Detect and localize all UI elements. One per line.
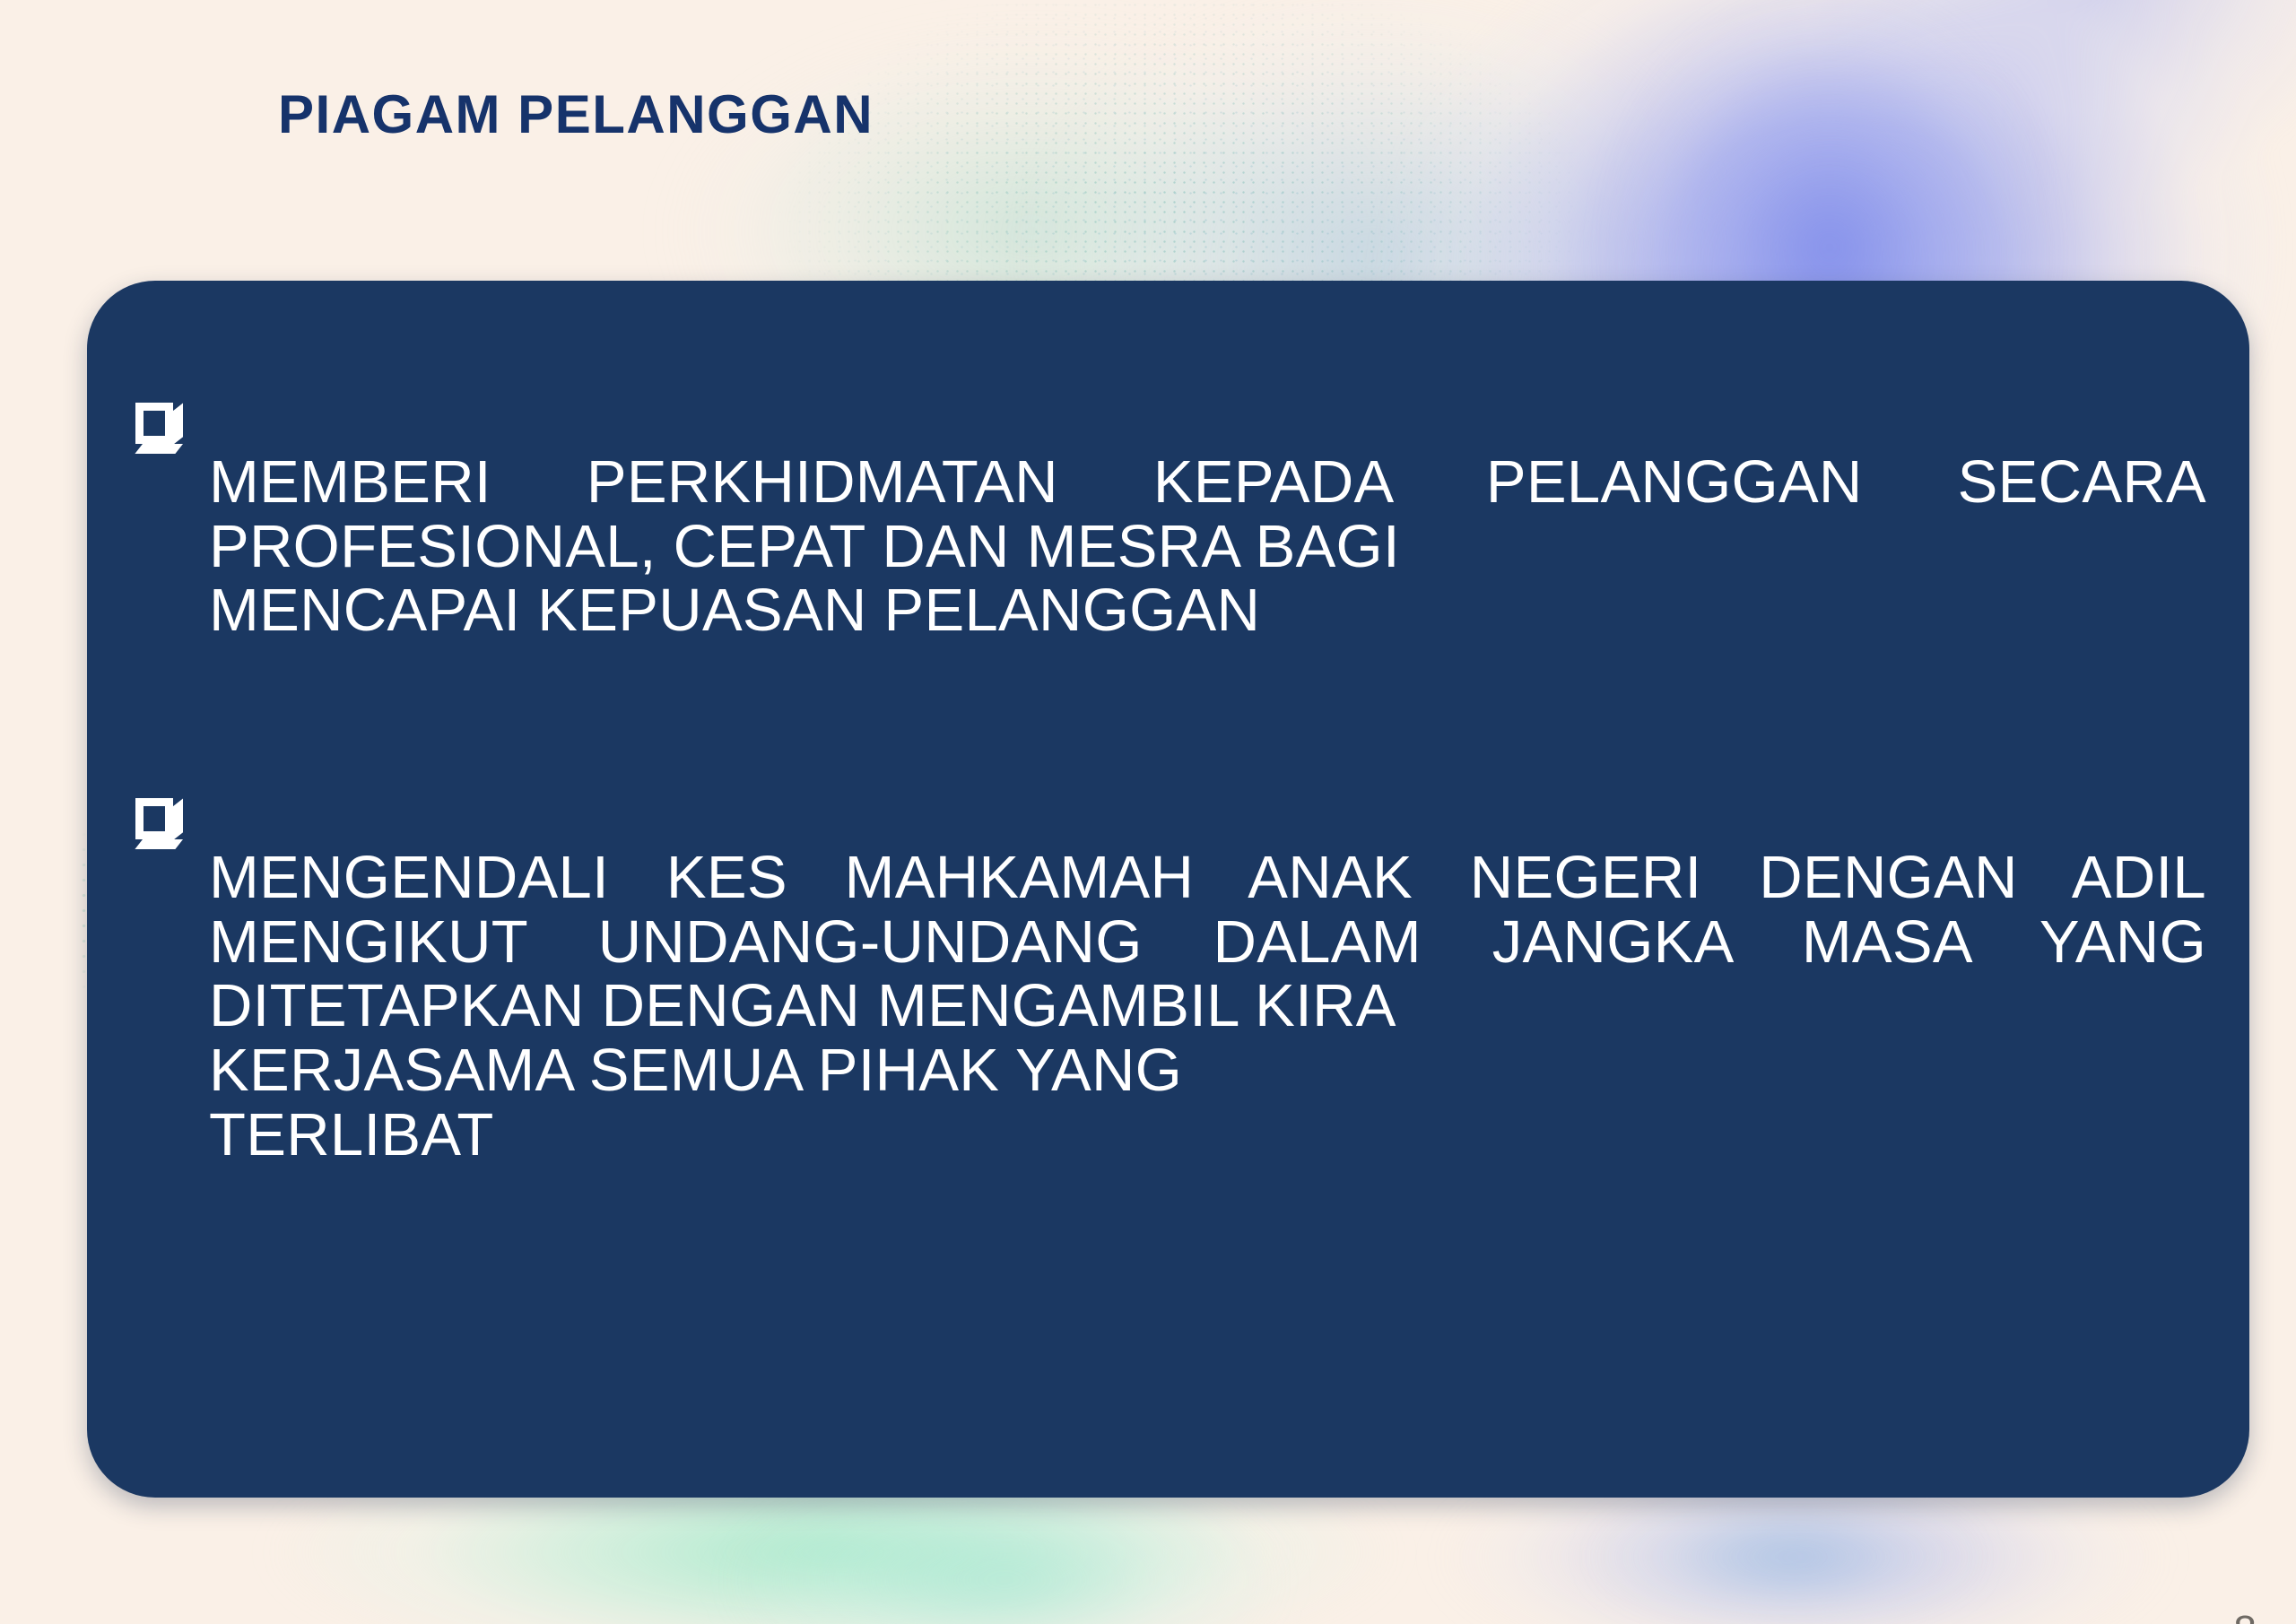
page-title: PIAGAM PELANGGAN	[278, 86, 874, 143]
charter-item-2-body: MENGENDALI KES MAHKAMAH ANAK NEGERI DENG…	[209, 844, 2206, 1039]
charter-item-1-last-line: MENCAPAI KEPUASAN PELANGGAN	[209, 578, 2206, 643]
charter-item-2-text: MENGENDALI KES MAHKAMAH ANAK NEGERI DENG…	[209, 846, 2206, 1167]
slide-root: PIAGAM PELANGGAN MEMBERI PERKHIDMATAN KE…	[0, 0, 2296, 1624]
charter-item-2-last-line: KERJASAMA SEMUA PIHAK YANG	[209, 1038, 2206, 1103]
hollow-square-bullet-icon	[135, 798, 209, 850]
charter-bullet-list: MEMBERI PERKHIDMATAN KEPADA PELANGGAN SE…	[135, 390, 2206, 1228]
list-item: MEMBERI PERKHIDMATAN KEPADA PELANGGAN SE…	[135, 390, 2206, 703]
charter-item-1-body: MEMBERI PERKHIDMATAN KEPADA PELANGGAN SE…	[209, 448, 2206, 580]
page-number: 8	[2233, 1606, 2257, 1624]
charter-item-2-extra-line: TERLIBAT	[209, 1103, 2206, 1168]
customer-charter-card: MEMBERI PERKHIDMATAN KEPADA PELANGGAN SE…	[87, 281, 2249, 1498]
blue-bottom-wash-decor	[1561, 1481, 2063, 1624]
list-item: MENGENDALI KES MAHKAMAH ANAK NEGERI DENG…	[135, 786, 2206, 1227]
charter-item-1-text: MEMBERI PERKHIDMATAN KEPADA PELANGGAN SE…	[209, 450, 2206, 643]
hollow-square-bullet-icon	[135, 403, 209, 455]
